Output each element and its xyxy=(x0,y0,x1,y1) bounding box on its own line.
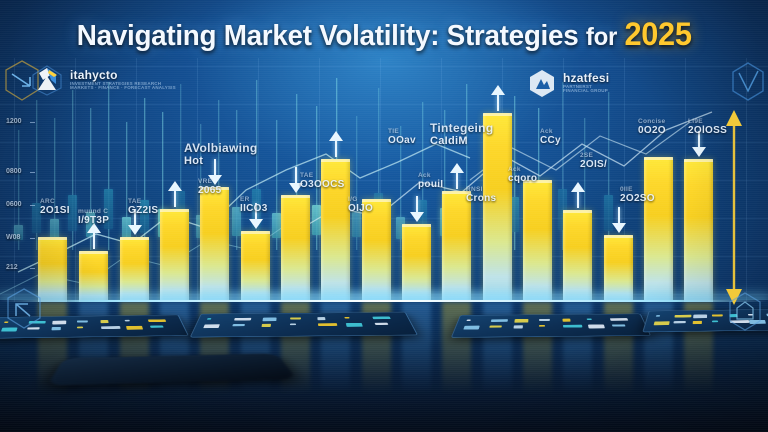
annotation-label-primary: ARC xyxy=(40,198,70,205)
title-main: Navigating Market Volatility: Strategies xyxy=(77,20,579,52)
tablet-chart-block xyxy=(588,325,605,329)
tablet-chart-block xyxy=(290,317,301,319)
tablet-chart-block xyxy=(563,319,571,322)
logo-left-subtitle2: MARKETS · FINANCE · FORECAST ANALYSIS xyxy=(70,86,176,91)
hexagon-mountain-logo-icon xyxy=(527,68,557,98)
annotation-label-secondary: CCy xyxy=(540,135,561,146)
tablet-chart-block xyxy=(693,315,707,319)
tablet-chart-block xyxy=(489,325,502,327)
tablet-chart-block xyxy=(712,321,718,323)
title-year: 2025 xyxy=(624,16,691,52)
title-for: for xyxy=(586,23,617,51)
annotation-label: AVolbiawingHot xyxy=(184,142,258,168)
y-axis-tick xyxy=(30,122,35,123)
annotation-label: I.I9E2OlOSS xyxy=(688,118,727,136)
tablet-chart-block xyxy=(203,324,220,328)
annotation-label-secondary: pouiI xyxy=(418,179,443,190)
annotation-label-secondary: GZ2IS xyxy=(128,205,158,216)
tablet-chart-block xyxy=(673,321,685,323)
annotation-label-secondary: 2OlOSS xyxy=(688,125,727,136)
triangle-diamond-logo-icon xyxy=(30,64,64,96)
annotation-label-primary: TAE xyxy=(128,198,158,205)
annotation-label-secondary: CaIdiM xyxy=(430,135,493,147)
annotation-label-secondary: 2OIS/ xyxy=(580,159,607,170)
logo-left[interactable]: itahycto INVESTMENT STRATEGIES RESEARCH … xyxy=(30,64,176,96)
annotation-label-primary: 0IIE xyxy=(620,186,655,193)
tablet-chart-block xyxy=(539,325,545,327)
page-title: Navigating Market Volatility: Strategies… xyxy=(0,16,768,53)
annotation-label-secondary: 2O2SO xyxy=(620,193,655,204)
hexagon-chart-icon[interactable] xyxy=(4,286,44,332)
tablet-chart-block xyxy=(126,326,143,330)
annotation-label-primary: ER xyxy=(240,196,268,203)
y-axis-tick-label: 0800 xyxy=(6,168,22,175)
tablet-chart-block xyxy=(318,323,337,326)
annotation-label: TAEO3OOCS xyxy=(300,172,345,190)
annotation-label-secondary: cqoro xyxy=(508,173,537,184)
annotation-label-secondary: Crons xyxy=(466,193,496,204)
dashboard-tablet-right[interactable] xyxy=(451,314,651,338)
tablet-chart-block xyxy=(656,315,660,317)
tablet-chart-block xyxy=(148,319,166,322)
annotation-label-primary: I.I9E xyxy=(688,118,727,125)
tablet-chart-block xyxy=(262,318,276,322)
hexagon-building-icon[interactable] xyxy=(726,290,764,334)
tablet-chart-block xyxy=(463,326,480,330)
logo-right-subtitle2: FINANCIAL GROUP xyxy=(563,89,609,94)
tablet-chart-block xyxy=(514,325,523,328)
tablet-chart-block xyxy=(563,325,582,328)
tablet-chart-block xyxy=(124,320,129,322)
annotation-label-primary: VRE xyxy=(198,178,221,185)
annotation-label-primary: Ack xyxy=(508,166,537,173)
annotation-label-secondary: I/9T3P xyxy=(78,215,109,226)
tablet-chart-block xyxy=(77,327,83,329)
tablet-chart-block xyxy=(77,320,88,322)
annotation-label-primary: muund C xyxy=(78,208,109,215)
tablet-chart-block xyxy=(207,318,212,320)
annotation-label: TAEGZ2IS xyxy=(128,198,158,216)
annotation-label-primary: Ack xyxy=(540,128,561,135)
annotation-label: AckpouiI xyxy=(418,172,443,190)
tablet-chart-block xyxy=(234,318,251,321)
bar-series xyxy=(0,60,768,303)
logo-right[interactable]: hzatfesi PARTNERST FINANCIAL GROUP xyxy=(527,68,609,98)
annotation-label-secondary: IICO3 xyxy=(240,203,268,214)
logo-left-name: itahycto xyxy=(70,69,176,82)
tablet-chart-block xyxy=(345,317,350,319)
tablet-chart-block xyxy=(101,320,109,323)
annotation-label-secondary: OIJO xyxy=(348,203,373,214)
annotation-label-secondary: 2065 xyxy=(198,185,221,196)
y-axis-tick-label: 1200 xyxy=(6,118,22,125)
tablet-chart-block xyxy=(490,319,507,322)
tablet-chart-block xyxy=(374,323,388,325)
tablet-chart-block xyxy=(514,319,528,323)
tablet-chart-block xyxy=(101,326,121,329)
annotation-label: TIEOOav xyxy=(388,128,416,146)
tablet-chart-block xyxy=(290,324,296,326)
volatility-range-arrow xyxy=(724,110,744,305)
annotation-label: AckCCy xyxy=(540,128,561,146)
tablet-chart-block xyxy=(612,324,626,326)
annotation-label-primary: Tintegeing xyxy=(430,122,493,135)
annotation-label-secondary: Hot xyxy=(184,155,258,167)
annotation-label-primary: TIE xyxy=(388,128,416,135)
annotation-label: Ackcqoro xyxy=(508,166,537,184)
annotation-label-secondary: O3OOCS xyxy=(300,179,345,190)
annotation-label-secondary: 2O1SI xyxy=(40,205,70,216)
y-axis-tick-label: 212 xyxy=(6,264,18,271)
annotation-label: 0IIE2O2SO xyxy=(620,186,655,204)
annotation-label-secondary: OOav xyxy=(388,135,416,146)
tablet-chart-block xyxy=(610,318,628,321)
tablet-chart-block xyxy=(150,325,164,327)
annotation-label-secondary: 0O2O xyxy=(638,125,666,136)
y-axis-tick xyxy=(30,205,35,206)
tablet-chart-block xyxy=(674,315,691,318)
annotation-label: I/GOIJO xyxy=(348,196,373,214)
y-axis-tick xyxy=(30,268,35,269)
banner-canvas: 120008000600W08212 AVolbiawingHotTintege… xyxy=(0,0,768,432)
tablet-chart-block xyxy=(52,321,66,325)
annotation-label: TintegeingCaIdiM xyxy=(430,122,493,148)
tablet-chart-block xyxy=(317,317,325,320)
tablet-chart-block xyxy=(539,319,550,321)
y-axis-tick xyxy=(30,172,35,173)
tablet-chart-block xyxy=(261,324,271,327)
dashboard-tablet-center[interactable] xyxy=(190,312,419,337)
tablet-chart-block xyxy=(712,314,723,316)
logo-right-name: hzatfesi xyxy=(563,72,609,85)
annotation-label: muund CI/9T3P xyxy=(78,208,109,226)
annotation-label: Concise0O2O xyxy=(638,118,666,136)
tablet-chart-block xyxy=(372,317,390,320)
annotation-label-primary: AVolbiawing xyxy=(184,142,258,155)
tablet-chart-block xyxy=(233,324,246,326)
tablet-chart-block xyxy=(587,318,592,320)
y-axis-tick-label: W08 xyxy=(6,234,20,241)
annotation-label: 2SE2OIS/ xyxy=(580,152,607,170)
tablet-chart-block xyxy=(466,320,470,322)
annotation-label-primary: Concise xyxy=(638,118,666,125)
annotation-label: VRE2065 xyxy=(198,178,221,196)
annotation-label-primary: 2SE xyxy=(580,152,607,159)
tablet-chart-block xyxy=(654,321,670,325)
annotation-label: ARC2O1SI xyxy=(40,198,70,216)
y-axis-tick-label: 0600 xyxy=(6,201,22,208)
annotation-label: ERIICO3 xyxy=(240,196,268,214)
y-axis-tick xyxy=(30,238,35,239)
hexagon-check-icon[interactable] xyxy=(729,60,767,104)
tablet-chart-block xyxy=(52,327,61,330)
tablet-chart-block xyxy=(692,321,701,324)
annotation-label-primary: RNSI xyxy=(466,186,496,193)
annotation-label-primary: Ack xyxy=(418,172,443,179)
annotation-label: RNSICrons xyxy=(466,186,496,204)
annotation-label-primary: TAE xyxy=(300,172,345,179)
tablet-chart-block xyxy=(346,323,363,327)
annotation-label-primary: I/G xyxy=(348,196,373,203)
